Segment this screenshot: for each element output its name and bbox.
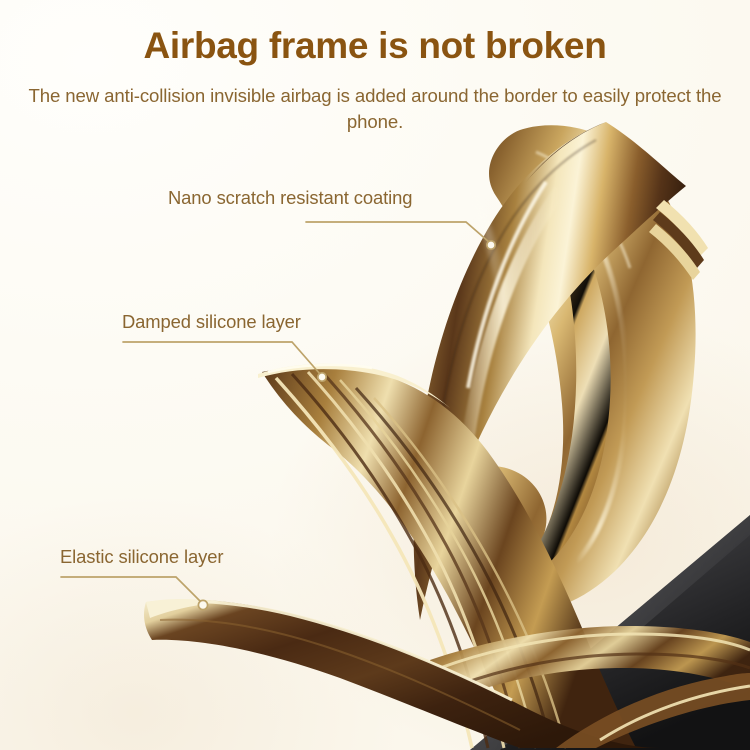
leader-marker-elastic bbox=[198, 600, 207, 609]
leader-line-damped bbox=[123, 342, 320, 374]
product-graphic-canvas: Airbag frame is not broken The new anti-… bbox=[0, 0, 750, 750]
leader-line-nano bbox=[306, 222, 489, 242]
leader-line-elastic bbox=[61, 577, 201, 602]
leader-marker-damped bbox=[318, 373, 326, 381]
callout-leader-lines bbox=[0, 0, 750, 750]
leader-marker-nano bbox=[487, 241, 495, 249]
